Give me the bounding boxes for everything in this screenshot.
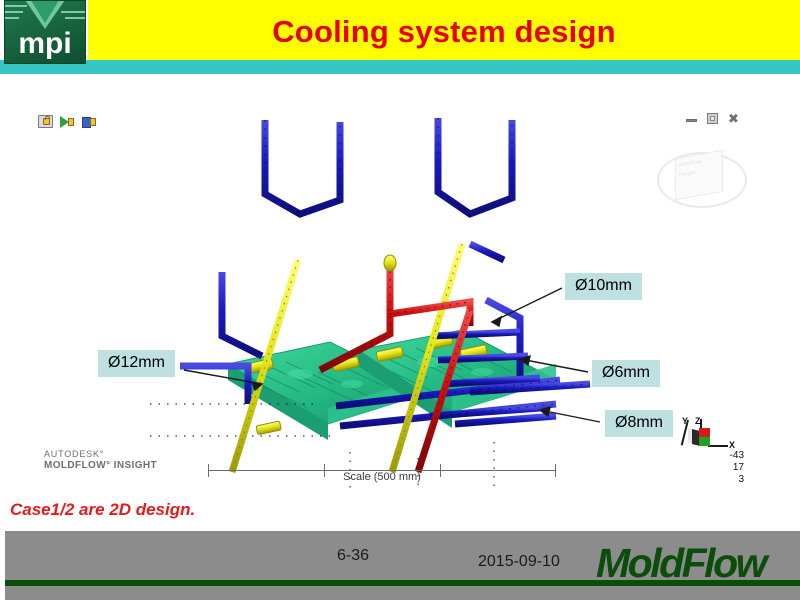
orientation-cube-icon [688, 428, 710, 446]
scale-bar-label: Scale (500 mm) [208, 471, 556, 483]
callout-d6: Ø6mm [592, 360, 660, 387]
sprue-icon [384, 255, 396, 271]
axis-x-label: X [729, 440, 735, 450]
viewport-canvas[interactable]: ✖ Moldflow Insight [0, 74, 800, 490]
slide-date: 2015-09-10 [478, 553, 560, 571]
mpi-logo-line [5, 11, 23, 13]
axis-value-3: 3 [696, 474, 744, 486]
scale-bar: Scale (500 mm) [208, 460, 556, 482]
mpi-triangle-inner-icon [29, 0, 61, 23]
autodesk-label: AUTODESK° [44, 449, 157, 460]
axis-value-2: 17 [696, 462, 744, 474]
blue-cooling-channels [150, 118, 590, 490]
mpi-logo: mpi [4, 0, 86, 64]
autodesk-branding: AUTODESK° MOLDFLOW° INSIGHT [44, 449, 157, 471]
footer-left-margin [0, 531, 5, 600]
moldflow-insight-label: MOLDFLOW° INSIGHT [44, 460, 157, 471]
axis-y-label: Y [682, 416, 688, 426]
mpi-logo-line [5, 17, 19, 19]
page-number: 6-36 [337, 547, 369, 565]
footer-green-bar [0, 580, 800, 586]
mpi-logo-line [65, 17, 85, 19]
page-title: Cooling system design [88, 8, 800, 56]
slide-caption: Case1/2 are 2D design. [10, 500, 195, 520]
callout-d12: Ø12mm [98, 350, 175, 377]
axis-values: -43 17 3 [696, 450, 744, 486]
axis-triad: X Y Z -43 17 3 [676, 418, 746, 484]
axis-x-line [708, 445, 728, 447]
slide-footer: 6-36 2015-09-10 MoldFlow [0, 531, 800, 600]
axis-value-1: -43 [696, 450, 744, 462]
mpi-logo-text: mpi [5, 25, 85, 63]
callout-d8: Ø8mm [605, 410, 673, 437]
slide: Cooling system design mpi [0, 0, 800, 600]
accent-strip [0, 60, 800, 74]
callout-d10: Ø10mm [565, 273, 642, 300]
axis-z-label: Z [695, 416, 701, 426]
